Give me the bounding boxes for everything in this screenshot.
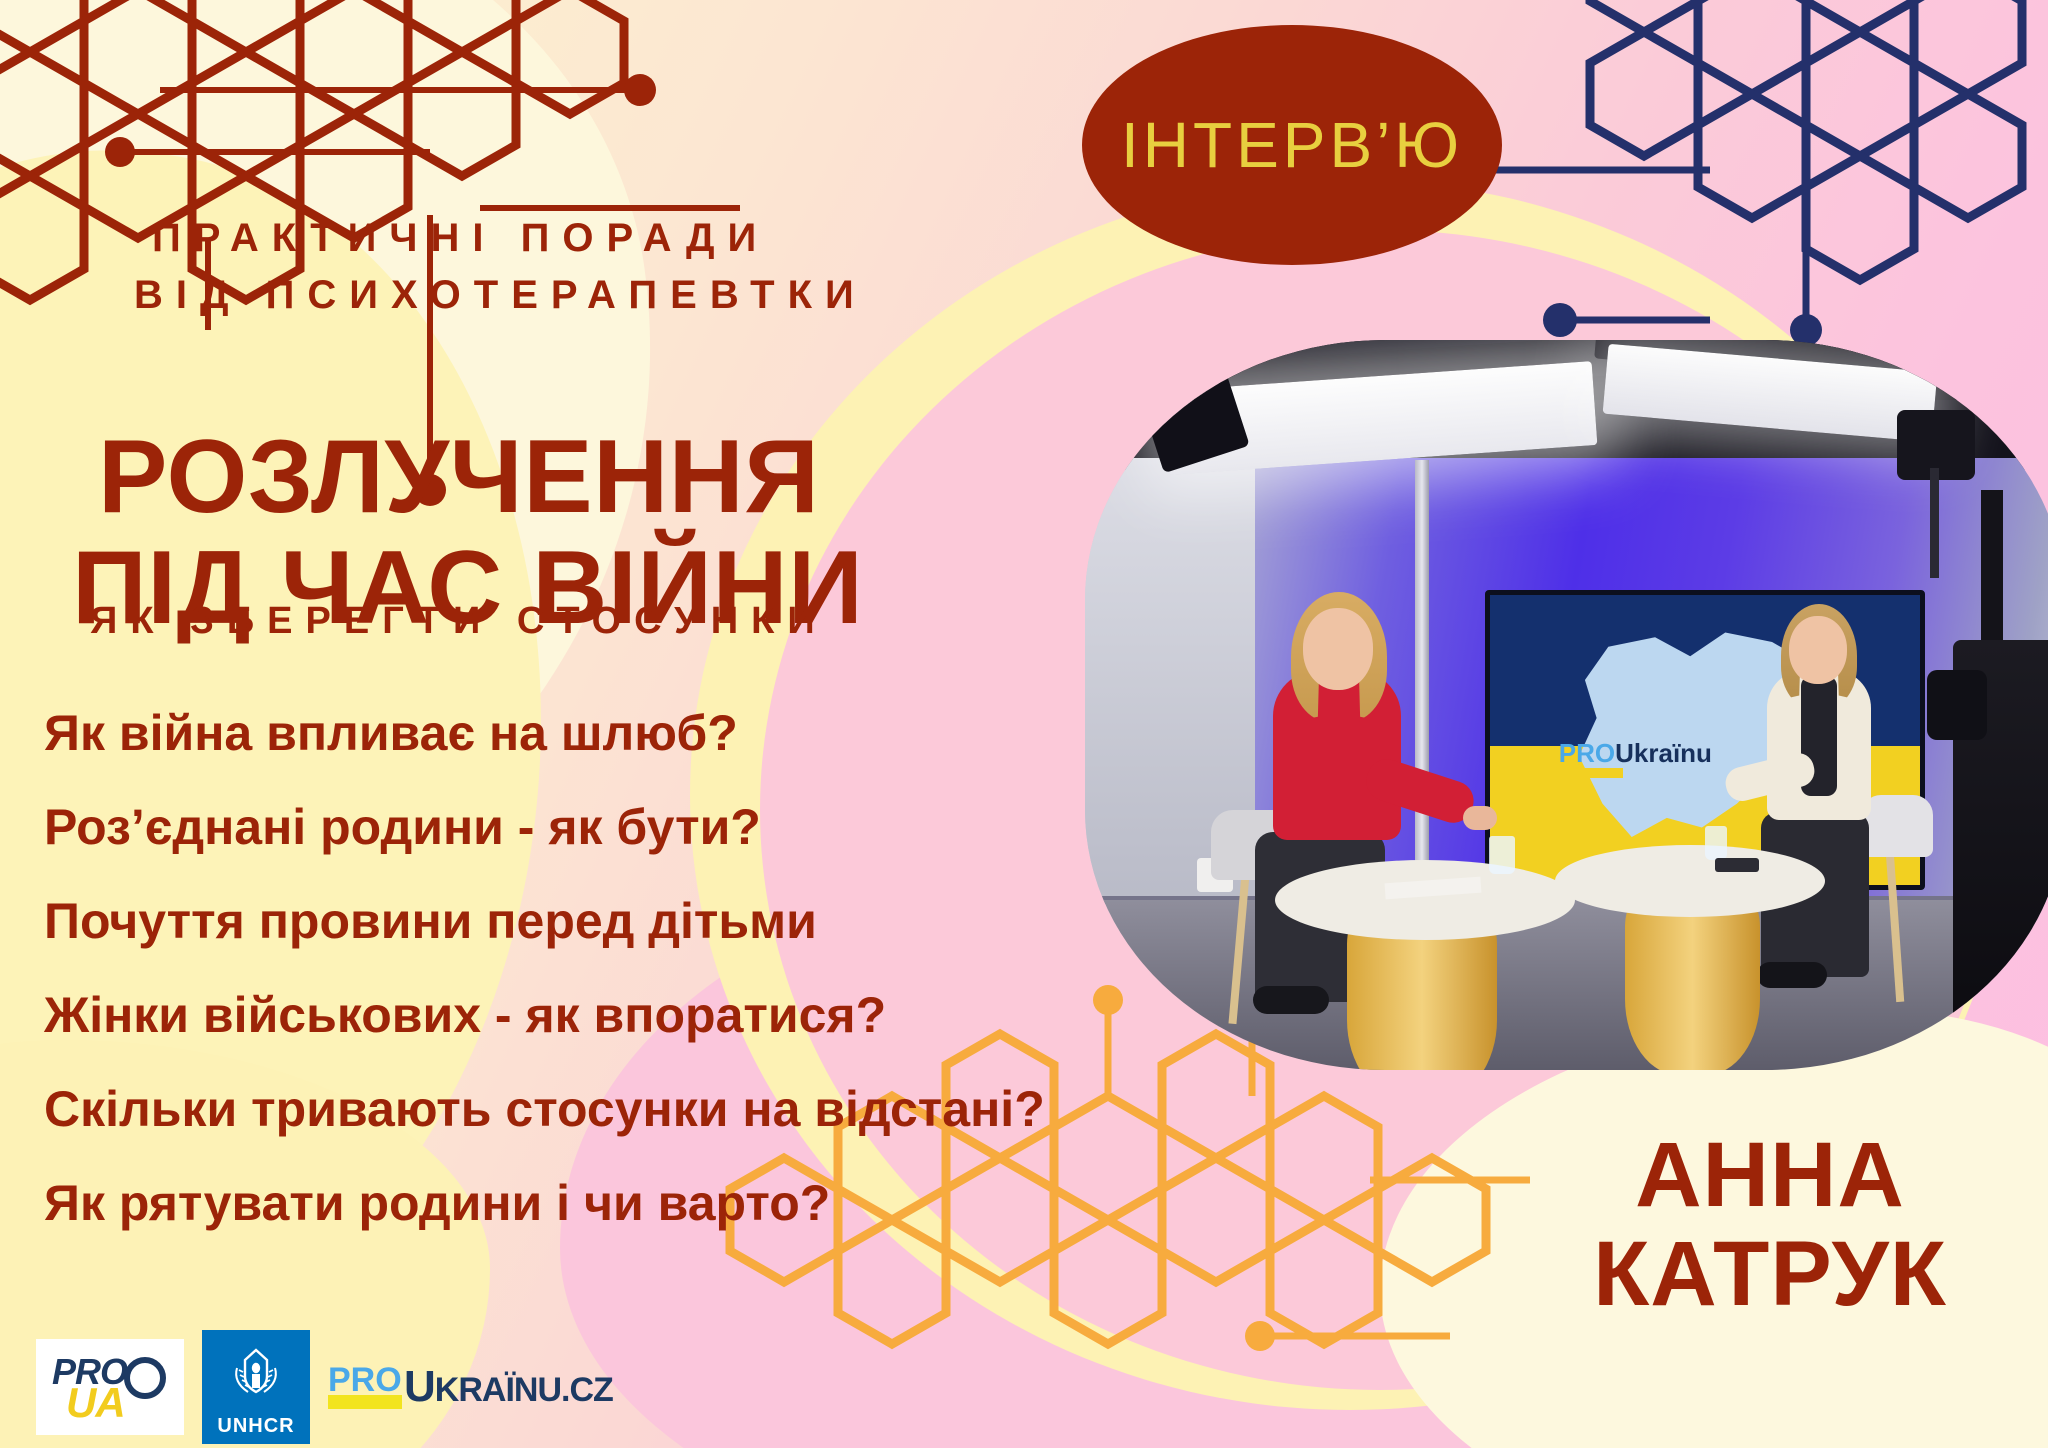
presenter-name: АННА КАТРУК bbox=[1530, 1126, 2010, 1325]
proukrainu-cz-logo: PRO UKRAÏNU.CZ bbox=[328, 1362, 613, 1412]
kicker-text: ПРАКТИЧНІ ПОРАДИ ВІД ПСИХОТЕРАПЕВТКИ bbox=[152, 210, 972, 324]
presenter-last-name: КАТРУК bbox=[1530, 1225, 2010, 1324]
studio-lamp-stand bbox=[1930, 468, 1939, 578]
studio-photo: PROUkraïnu bbox=[1085, 340, 2048, 1070]
question-list: Як війна впливає на шлюб? Роз’єднані род… bbox=[44, 708, 1124, 1272]
pro-ua-logo-ring-icon bbox=[124, 1357, 166, 1399]
list-item: Скільки тривають стосунки на відстані? bbox=[44, 1084, 1124, 1134]
presenter-first-name: АННА bbox=[1635, 1124, 1905, 1226]
list-item: Як війна впливає на шлюб? bbox=[44, 708, 1124, 758]
logo-bar: PRO UA UNHCR PRO UKRAÏNU.CZ bbox=[36, 1330, 613, 1444]
list-item: Роз’єднані родини - як бути? bbox=[44, 802, 1124, 852]
proukrainu-logo-word: UKRAÏNU.CZ bbox=[404, 1362, 613, 1412]
proukrainu-logo-mark: PRO bbox=[328, 1365, 402, 1410]
camera-boom bbox=[1981, 490, 2003, 650]
subheadline-text: ЯК ЗБЕРЕГТИ СТОСУНКИ bbox=[90, 600, 990, 643]
guest-hand bbox=[1463, 806, 1497, 830]
proukrainu-logo-pro: PRO bbox=[328, 1365, 402, 1396]
table-top bbox=[1275, 860, 1575, 940]
unhcr-emblem-icon bbox=[223, 1342, 289, 1404]
tv-logo-pro: PRO bbox=[1559, 738, 1615, 768]
badge-label: ІНТЕРВ’Ю bbox=[1121, 108, 1463, 182]
pro-ua-logo: PRO UA bbox=[36, 1339, 184, 1435]
proukrainu-logo-rest: KRAÏNU bbox=[435, 1371, 561, 1409]
proukrainu-logo-suffix: .CZ bbox=[561, 1371, 613, 1409]
kicker-line-2: ВІД ПСИХОТЕРАПЕВТКИ bbox=[134, 267, 972, 324]
proukrainu-logo-u: U bbox=[404, 1362, 435, 1411]
water-glass bbox=[1489, 836, 1515, 874]
phone-on-table bbox=[1715, 858, 1759, 872]
list-item: Як рятувати родини і чи варто? bbox=[44, 1178, 1124, 1228]
studio-wall-pole bbox=[1415, 460, 1429, 925]
host-head bbox=[1789, 616, 1847, 684]
guest-head bbox=[1303, 608, 1373, 690]
tv-logo-underline bbox=[1559, 768, 1623, 778]
tv-screen-logo: PROUkraïnu bbox=[1559, 740, 1712, 778]
pro-ua-logo-ua: UA bbox=[66, 1379, 125, 1427]
unhcr-logo-label: UNHCR bbox=[217, 1415, 294, 1438]
guest-shoe bbox=[1253, 986, 1329, 1014]
camera-lens-icon bbox=[1927, 670, 1987, 740]
water-glass bbox=[1705, 826, 1727, 860]
host-shoe bbox=[1757, 962, 1827, 988]
poster-canvas: ПРАКТИЧНІ ПОРАДИ ВІД ПСИХОТЕРАПЕВТКИ РОЗ… bbox=[0, 0, 2048, 1448]
status-badge: ІНТЕРВ’Ю bbox=[1082, 25, 1502, 265]
headline-line-1: РОЗЛУЧЕННЯ bbox=[98, 419, 820, 535]
studio-floor bbox=[1085, 900, 2048, 1070]
unhcr-logo: UNHCR bbox=[202, 1330, 310, 1444]
list-item: Почуття провини перед дітьми bbox=[44, 896, 1124, 946]
studio-photo-scene: PROUkraïnu bbox=[1085, 340, 2048, 1070]
table-top bbox=[1555, 845, 1825, 917]
list-item: Жінки військових - як впоратися? bbox=[44, 990, 1124, 1040]
kicker-line-1: ПРАКТИЧНІ ПОРАДИ bbox=[152, 216, 769, 260]
headline-column: ПРАКТИЧНІ ПОРАДИ ВІД ПСИХОТЕРАПЕВТКИ РОЗ… bbox=[0, 0, 1120, 1448]
tv-logo-rest: Ukraïnu bbox=[1615, 738, 1712, 768]
stool-seat bbox=[1861, 795, 1933, 857]
hexagons-top-right bbox=[1453, 0, 2022, 346]
